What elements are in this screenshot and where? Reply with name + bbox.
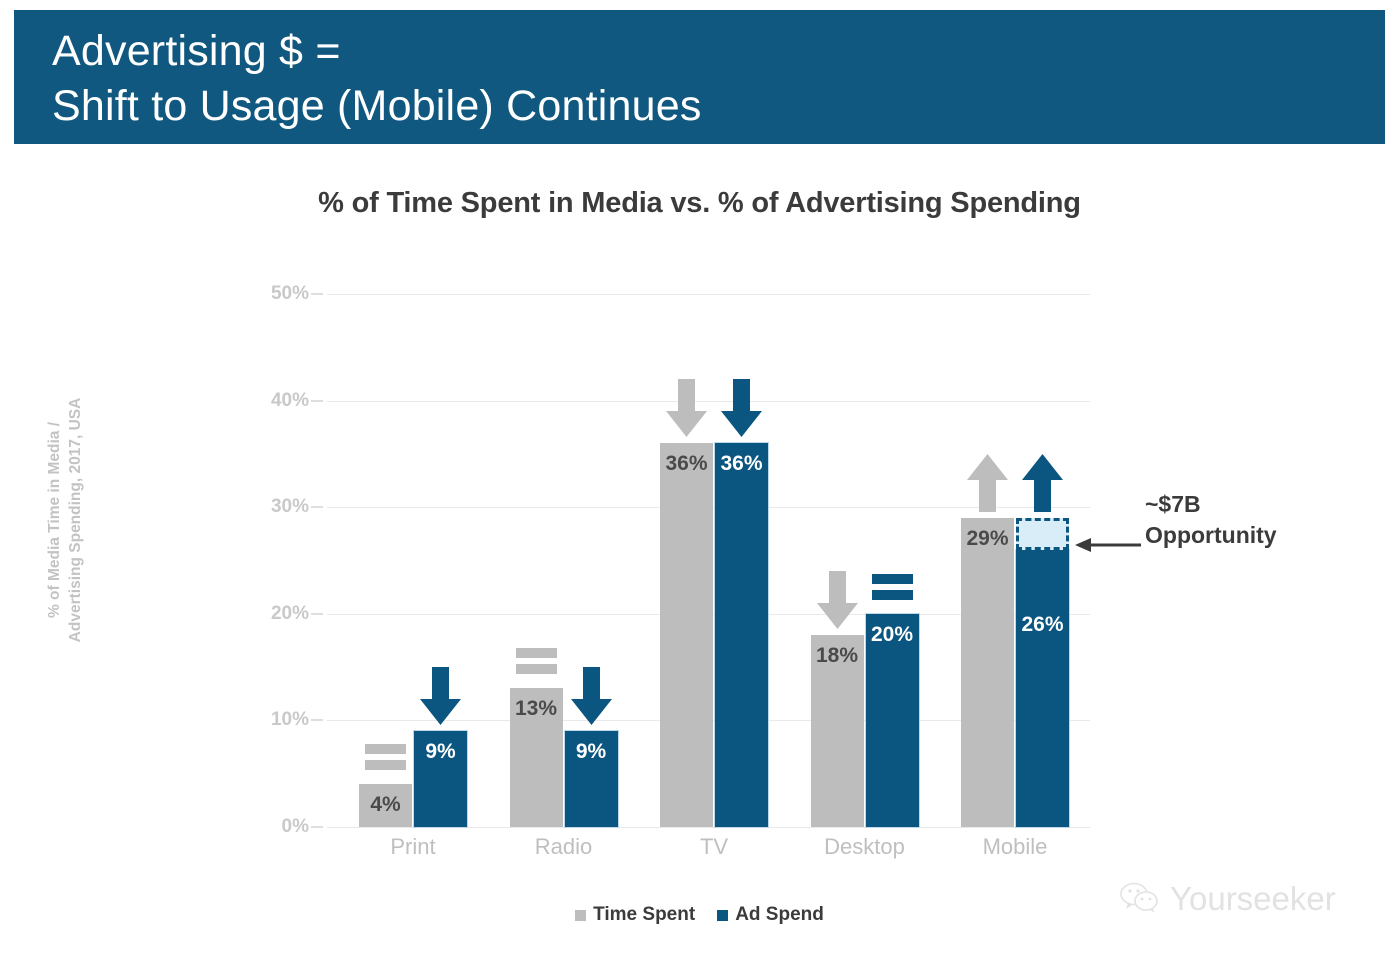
bar-value-label: 36%	[660, 452, 713, 476]
x-axis-label-radio: Radio	[504, 834, 624, 860]
bar-value-label: 26%	[1016, 613, 1069, 637]
y-axis-tick-mark	[311, 826, 323, 828]
opportunity-arrow-icon	[1075, 537, 1141, 553]
gridline	[327, 827, 1090, 828]
y-axis-tick-mark	[311, 400, 323, 402]
x-axis-label-mobile: Mobile	[955, 834, 1075, 860]
wechat-icon	[1120, 882, 1160, 916]
bar-mobile-time-spent[interactable]: 29%	[961, 518, 1014, 827]
trend-indicator-down-icon	[660, 377, 713, 439]
bar-value-label: 13%	[510, 697, 563, 721]
bar-value-label: 29%	[961, 527, 1014, 551]
plot-area: 50%40%30%20%10%0% 4%9%13%9%36%36%18%20%2…	[327, 294, 1090, 827]
x-axis-label-desktop: Desktop	[805, 834, 925, 860]
header-title-line-2: Shift to Usage (Mobile) Continues	[52, 79, 1385, 134]
x-axis-label-tv: TV	[654, 834, 774, 860]
header-title-line-1: Advertising $ =	[52, 24, 1385, 79]
bar-radio-time-spent[interactable]: 13%	[510, 688, 563, 827]
y-axis-title-line-2: Advertising Spending, 2017, USA	[67, 398, 84, 643]
bar-value-label: 36%	[715, 452, 768, 476]
bar-radio-ad-spend[interactable]: 9%	[565, 731, 618, 827]
bar-value-label: 9%	[565, 740, 618, 764]
bar-value-label: 9%	[414, 740, 467, 764]
y-axis-tick-label: 0%	[282, 816, 309, 838]
bar-tv-time-spent[interactable]: 36%	[660, 443, 713, 827]
trend-indicator-down-icon	[414, 665, 467, 727]
y-axis-tick-label: 30%	[271, 496, 309, 518]
trend-indicator-up-icon	[1016, 452, 1069, 514]
y-axis-tick-label: 50%	[271, 283, 309, 305]
x-axis-label-print: Print	[353, 834, 473, 860]
legend-swatch-time-spent	[575, 910, 586, 921]
chart-region: % of Time Spent in Media vs. % of Advert…	[0, 144, 1399, 960]
trend-indicator-down-icon	[811, 569, 864, 631]
bar-value-label: 18%	[811, 644, 864, 668]
bar-desktop-time-spent[interactable]: 18%	[811, 635, 864, 827]
y-axis-tick-mark	[311, 613, 323, 615]
trend-indicator-equals-icon	[359, 718, 412, 780]
y-axis-tick-mark	[311, 293, 323, 295]
trend-indicator-down-icon	[715, 377, 768, 439]
legend-label-ad-spend: Ad Spend	[735, 904, 824, 926]
trend-indicator-up-icon	[961, 452, 1014, 514]
bar-mobile-ad-spend[interactable]: 26%	[1016, 550, 1069, 827]
chart-title: % of Time Spent in Media vs. % of Advert…	[0, 187, 1399, 220]
bar-print-time-spent[interactable]: 4%	[359, 784, 412, 827]
opportunity-annotation: ~$7B Opportunity	[1145, 489, 1277, 551]
y-axis-tick-mark	[311, 506, 323, 508]
legend-item-time-spent[interactable]: Time Spent	[575, 904, 695, 926]
opportunity-box	[1016, 518, 1069, 550]
trend-indicator-down-icon	[565, 665, 618, 727]
bar-print-ad-spend[interactable]: 9%	[414, 731, 467, 827]
y-axis-title: % of Media Time in Media / Advertising S…	[44, 355, 86, 685]
opportunity-amount: ~$7B	[1145, 489, 1277, 520]
bar-value-label: 20%	[866, 623, 919, 647]
legend-item-ad-spend[interactable]: Ad Spend	[717, 904, 824, 926]
trend-indicator-equals-icon	[866, 548, 919, 610]
y-axis-tick-label: 40%	[271, 390, 309, 412]
opportunity-label: Opportunity	[1145, 520, 1277, 551]
y-axis-tick-label: 20%	[271, 603, 309, 625]
y-axis-tick-label: 10%	[271, 709, 309, 731]
gridline	[327, 294, 1090, 295]
legend-label-time-spent: Time Spent	[593, 904, 695, 926]
y-axis-title-line-1: % of Media Time in Media /	[46, 422, 63, 618]
header-banner: Advertising $ = Shift to Usage (Mobile) …	[14, 10, 1385, 144]
watermark-text: Yourseeker	[1170, 880, 1336, 918]
bar-tv-ad-spend[interactable]: 36%	[715, 443, 768, 827]
trend-indicator-equals-icon	[510, 622, 563, 684]
watermark: Yourseeker	[1120, 880, 1336, 918]
y-axis-tick-mark	[311, 719, 323, 721]
bar-desktop-ad-spend[interactable]: 20%	[866, 614, 919, 827]
legend-swatch-ad-spend	[717, 910, 728, 921]
bar-value-label: 4%	[359, 793, 412, 817]
